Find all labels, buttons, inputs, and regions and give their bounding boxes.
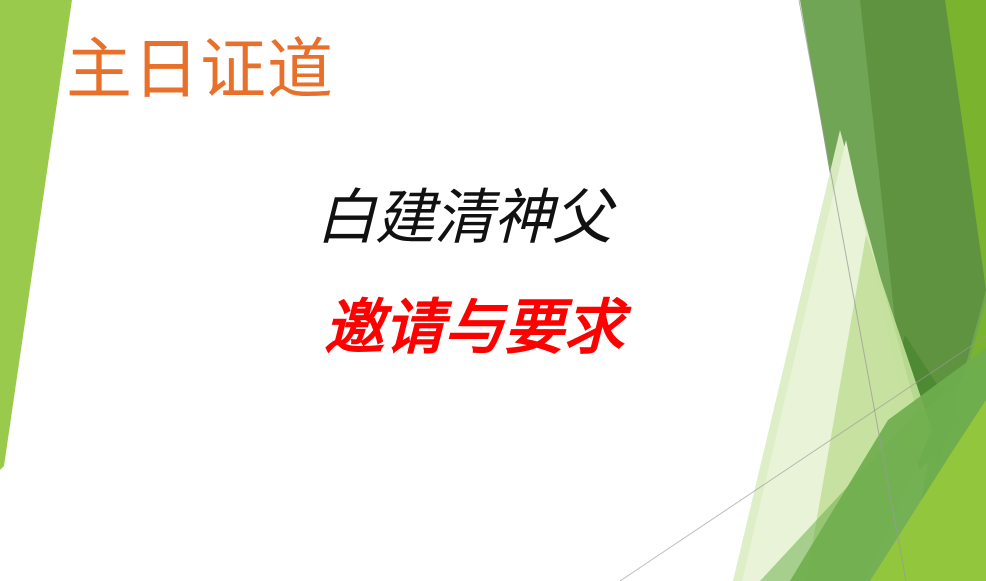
right-bottom-green-sweep [790,348,986,581]
right-deep-green-blade [800,0,986,470]
right-dark-green-inner-blade [860,0,986,468]
bottom-right-lime-accent [870,400,986,581]
slide-subject: 邀请与要求 [324,298,624,358]
presentation-slide: 主日证道 白建清神父 邀请与要求 [0,0,986,581]
hairline-down-right [799,0,906,581]
slide-speaker-name: 白建清神父 [316,188,611,248]
left-lime-wedge [0,0,72,470]
right-pale-green-fan [733,130,916,581]
right-soft-green-fan [806,235,932,581]
slide-title: 主日证道 [66,38,334,104]
right-bright-green-band [905,0,986,581]
bottom-left-green-corner [760,360,986,581]
right-paler-green-fan [742,140,900,581]
hairline-up-right [620,336,986,581]
right-dark-green-notch [888,335,960,470]
